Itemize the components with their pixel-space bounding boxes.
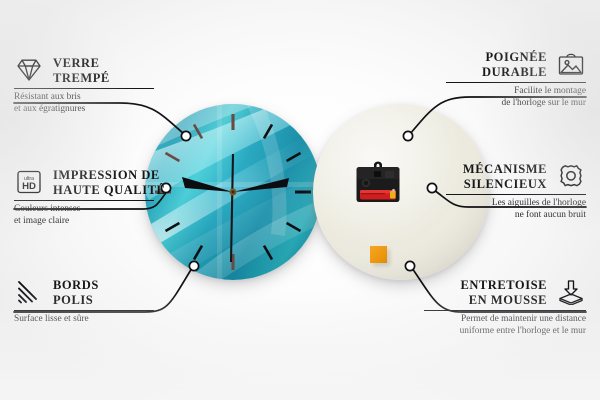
feature-rule — [446, 194, 586, 195]
feature-mecanisme-silencieux: MÉCANISMESILENCIEUX Les aiguilles de l'h… — [446, 162, 586, 221]
feature-title-line1: VERRE — [53, 56, 100, 70]
feature-verre-trempe: VERRETREMPÉ Résistant aux bris et aux ég… — [14, 56, 154, 115]
wall-hanger-frame-icon — [556, 51, 586, 79]
feature-impression-haute-qualite: ultra HD IMPRESSION DEHAUTE QUALITÉ Coul… — [14, 168, 154, 227]
feature-title-line2: DURABLE — [482, 65, 547, 79]
ultra-hd-badge-icon: ultra HD — [14, 169, 44, 197]
clock-mechanism-module — [355, 160, 401, 204]
polished-edges-icon — [14, 279, 44, 307]
feature-title-line2: SILENCIEUX — [464, 177, 547, 191]
feature-description: Facilite le montage de l'horloge sur le … — [446, 86, 586, 109]
feature-title-line1: BORDS — [53, 278, 99, 292]
clock-face-front — [145, 104, 321, 280]
feature-title-line1: POIGNÉE — [486, 50, 548, 64]
gear-icon — [556, 163, 586, 191]
feature-title-line1: ENTRETOISE — [460, 278, 547, 292]
feature-description: Résistant aux bris et aux égratignures — [14, 92, 154, 115]
foam-spacer-square — [370, 246, 387, 263]
feature-bords-polis: BORDSPOLIS Surface lisse et sûre — [14, 278, 154, 326]
foam-spacer-arrow-icon — [556, 279, 586, 307]
feature-poignee-durable: POIGNÉEDURABLE Facilite le montage de l'… — [446, 50, 586, 109]
feature-rule — [446, 82, 586, 83]
feature-title-line2: POLIS — [53, 293, 93, 307]
feature-title-line2: HAUTE QUALITÉ — [53, 183, 165, 197]
feature-description: Les aiguilles de l'horloge ne font aucun… — [446, 198, 586, 221]
infographic-canvas: VERRETREMPÉ Résistant aux bris et aux ég… — [0, 0, 600, 400]
feature-description: Surface lisse et sûre — [14, 314, 154, 326]
feature-title-line2: TREMPÉ — [53, 71, 110, 85]
badge-main-text: HD — [22, 181, 36, 192]
feature-description: Permet de maintenir une distance uniform… — [424, 314, 586, 337]
diamond-gem-icon — [14, 57, 44, 85]
feature-rule — [14, 88, 154, 89]
feature-entretoise-en-mousse: ENTRETOISEEN MOUSSE Permet de maintenir … — [424, 278, 586, 337]
feature-title-line1: IMPRESSION DE — [53, 168, 160, 182]
feature-rule — [14, 200, 154, 201]
feature-rule — [424, 310, 586, 311]
feature-rule — [14, 310, 154, 311]
feature-title-line1: MÉCANISME — [463, 162, 547, 176]
feature-description: Couleurs intenses et image claire — [14, 204, 154, 227]
feature-title-line2: EN MOUSSE — [469, 293, 547, 307]
